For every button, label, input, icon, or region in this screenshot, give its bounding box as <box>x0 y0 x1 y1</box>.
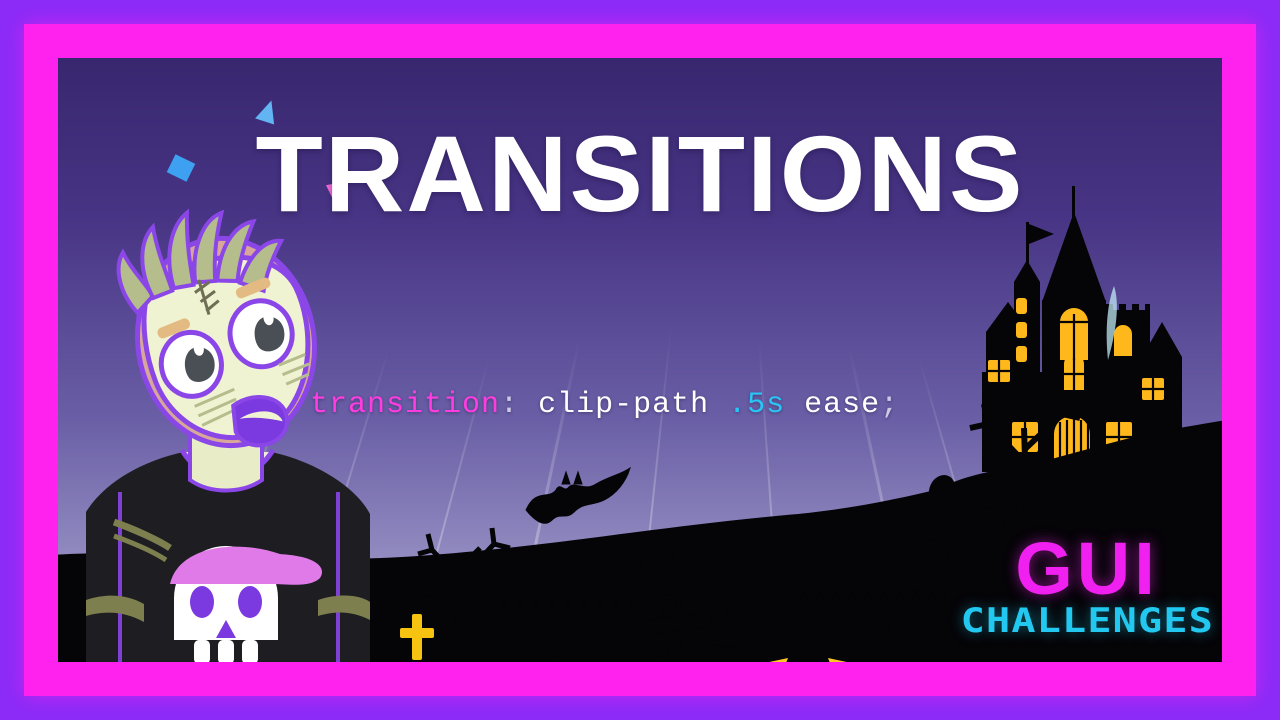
bat-icon <box>526 468 630 523</box>
presenter-avatar <box>66 192 396 662</box>
neon-frame: TRANSITIONS transition: clip-path .5s ea… <box>24 24 1256 696</box>
avatar-head <box>110 195 331 465</box>
thumbnail-canvas: TRANSITIONS transition: clip-path .5s ea… <box>0 0 1280 720</box>
scene: TRANSITIONS transition: clip-path .5s ea… <box>58 58 1222 662</box>
brand-gui: GUI <box>1015 534 1159 604</box>
brand-logo: GUI CHALLENGES <box>962 516 1212 656</box>
brand-challenges: CHALLENGES <box>960 604 1213 638</box>
